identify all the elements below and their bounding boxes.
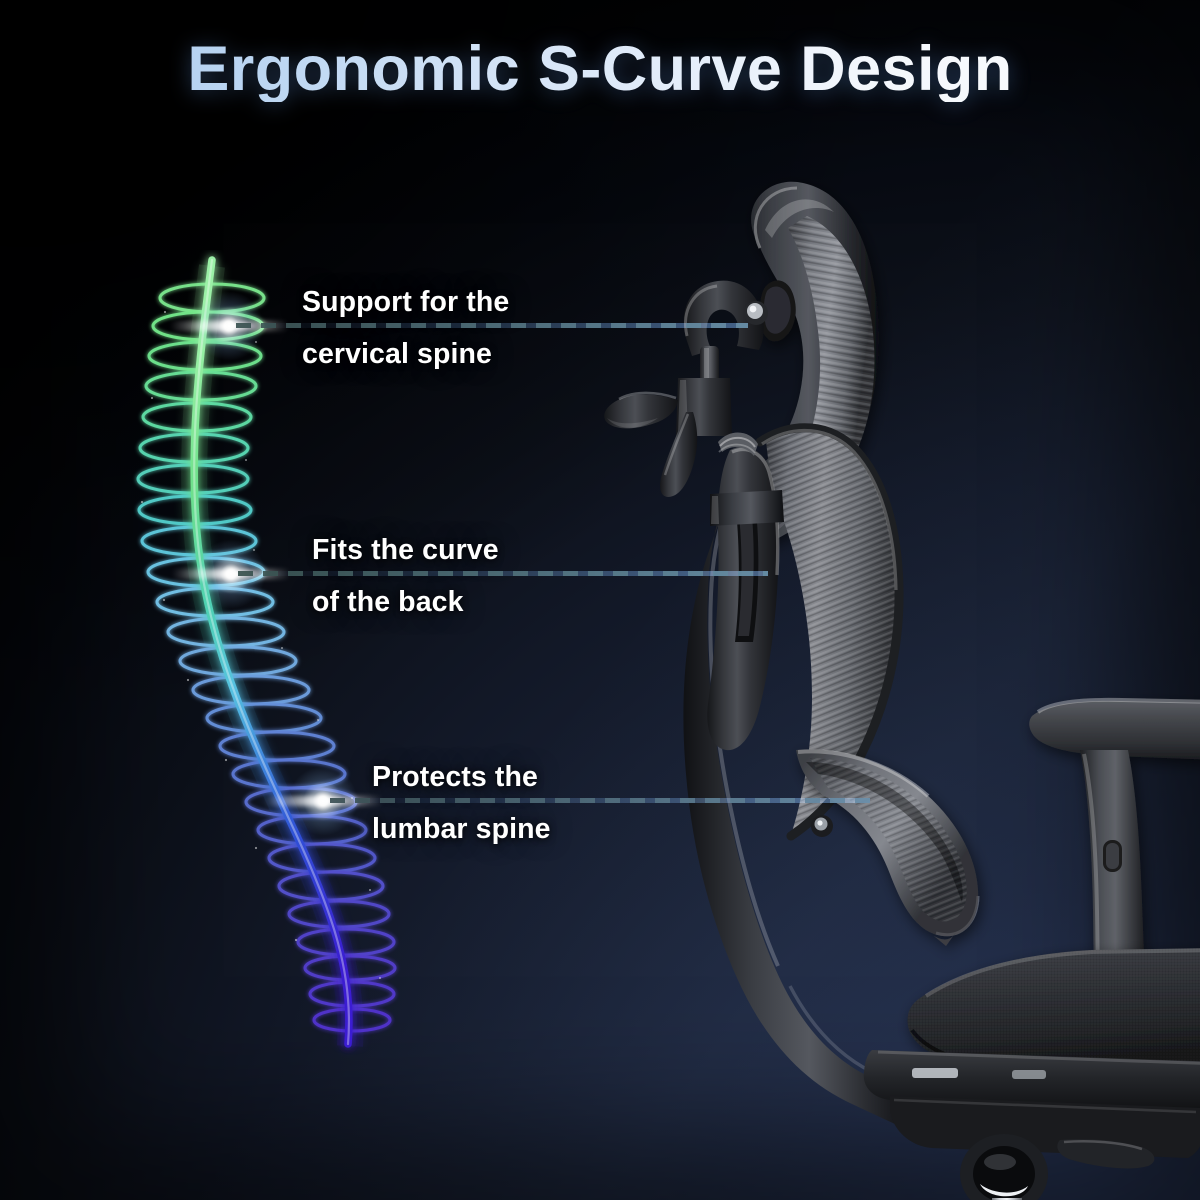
callout-cervical-line2: cervical spine — [302, 328, 509, 380]
callout-thoracic-line2: of the back — [312, 576, 499, 628]
page-title: Ergonomic S-Curve Design — [0, 36, 1200, 102]
callout-cervical: Support for the cervical spine — [302, 276, 509, 380]
callout-lumbar-line2: lumbar spine — [372, 803, 551, 855]
callout-cervical-line1: Support for the — [302, 276, 509, 328]
lumbar-support — [796, 749, 978, 946]
callout-lumbar: Protects the lumbar spine — [372, 751, 551, 855]
infographic-canvas: Ergonomic S-Curve Design — [0, 0, 1200, 1200]
seat-cushion — [908, 948, 1200, 1070]
callout-thoracic: Fits the curve of the back — [312, 524, 499, 628]
lumbar-pivot-screw — [811, 815, 833, 837]
back-support-panel — [707, 432, 784, 750]
chair-illustration — [560, 150, 1200, 1200]
callout-lumbar-line1: Protects the — [372, 751, 551, 803]
leader-line-cervical — [236, 323, 748, 328]
callout-thoracic-line1: Fits the curve — [312, 524, 499, 576]
leader-line-lumbar — [330, 798, 870, 803]
leader-line-thoracic — [238, 571, 768, 576]
